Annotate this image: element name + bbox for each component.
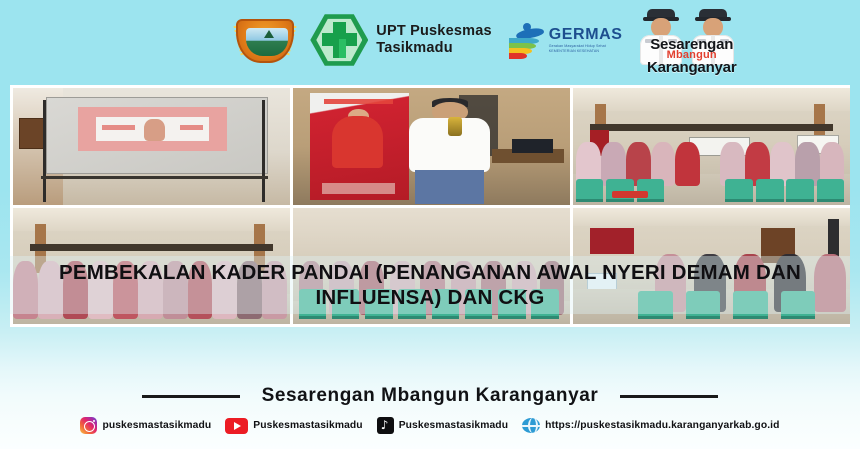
social-item-youtube[interactable]: Puskesmastasikmadu bbox=[225, 418, 362, 434]
org-title: UPT Puskesmas Tasikmadu bbox=[376, 23, 491, 57]
tagline-text: Sesarengan Mbangun Karanganyar bbox=[262, 385, 599, 407]
headline-overlay-band: PEMBEKALAN KADER PANDAI (PENANGANAN AWAL… bbox=[10, 256, 850, 314]
tiktok-icon: ♪ bbox=[377, 417, 394, 434]
instagram-icon bbox=[80, 417, 97, 434]
social-item-instagram[interactable]: puskesmastasikmadu bbox=[80, 417, 211, 434]
social-item-tiktok[interactable]: ♪ Puskesmastasikmadu bbox=[377, 417, 508, 434]
page-title: PEMBEKALAN KADER PANDAI (PENANGANAN AWAL… bbox=[10, 260, 850, 310]
tiktok-handle: Puskesmastasikmadu bbox=[399, 420, 508, 431]
germas-logo: GERMAS Gerakan Masyarakat Hidup Sehat KE… bbox=[506, 16, 614, 64]
photo-speaker-with-microphone bbox=[293, 88, 570, 205]
germas-subtitle: Gerakan Masyarakat Hidup Sehat KEMENTERI… bbox=[549, 44, 623, 54]
regency-crest bbox=[234, 13, 296, 67]
germas-swoosh-icon bbox=[506, 20, 546, 60]
divider-left bbox=[142, 395, 240, 398]
germas-wordmark: GERMAS bbox=[549, 26, 623, 44]
puskesmas-identity: UPT Puskesmas Tasikmadu bbox=[310, 12, 491, 68]
website-url: https://puskestasikmadu.karanganyarkab.g… bbox=[545, 420, 779, 431]
social-footer: puskesmastasikmadu Puskesmastasikmadu ♪ … bbox=[0, 417, 860, 434]
photo-projector-screen-presentation bbox=[13, 88, 290, 205]
social-item-website[interactable]: https://puskestasikmadu.karanganyarkab.g… bbox=[522, 418, 779, 433]
karanganyar-regency-crest-icon bbox=[234, 13, 296, 67]
poster-header: UPT Puskesmas Tasikmadu GERMAS Gerakan M… bbox=[0, 0, 860, 80]
tagline-row: Sesarengan Mbangun Karanganyar bbox=[0, 385, 860, 407]
poster-canvas: UPT Puskesmas Tasikmadu GERMAS Gerakan M… bbox=[0, 0, 860, 449]
youtube-icon bbox=[225, 418, 248, 434]
instagram-handle: puskesmastasikmadu bbox=[102, 420, 211, 431]
photo-hall-participants-wide bbox=[573, 88, 850, 205]
green-cross-hexagon-icon bbox=[310, 12, 368, 68]
youtube-handle: Puskesmastasikmadu bbox=[253, 420, 362, 431]
divider-right bbox=[620, 395, 718, 398]
badge-line-3: Karanganyar bbox=[628, 60, 756, 75]
website-globe-icon bbox=[522, 418, 540, 433]
sesarengan-badge: Sesarengan Mbangun Karanganyar bbox=[628, 3, 756, 77]
